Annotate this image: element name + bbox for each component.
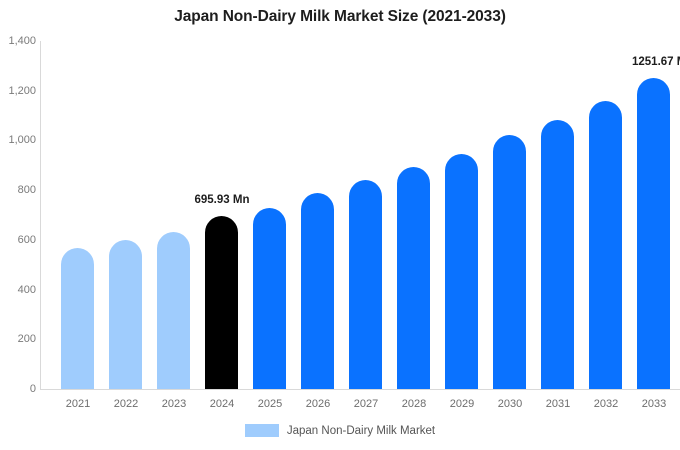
bar-group-2026: 2026 — [294, 0, 342, 450]
y-axis-tick-label: 400 — [2, 284, 36, 296]
x-axis-tick-label-2029: 2029 — [438, 398, 486, 410]
y-axis-tick-label: 1,000 — [2, 134, 36, 146]
bar-2024[interactable] — [205, 216, 238, 389]
x-axis-tick-label-2032: 2032 — [582, 398, 630, 410]
x-axis-tick-label-2022: 2022 — [102, 398, 150, 410]
bars-layer: 2021202220232024695.93 Mn202520262027202… — [40, 0, 680, 450]
x-axis-tick-label-2023: 2023 — [150, 398, 198, 410]
legend-label-japan-non-dairy-milk-market: Japan Non-Dairy Milk Market — [287, 425, 435, 437]
bar-2025[interactable] — [253, 208, 286, 389]
y-axis-tick-label: 600 — [2, 234, 36, 246]
x-axis-tick-label-2026: 2026 — [294, 398, 342, 410]
bar-group-2028: 2028 — [390, 0, 438, 450]
x-axis-tick-label-2021: 2021 — [54, 398, 102, 410]
bar-group-2030: 2030 — [486, 0, 534, 450]
x-axis-tick-label-2027: 2027 — [342, 398, 390, 410]
bar-group-2025: 2025 — [246, 0, 294, 450]
x-axis-tick-label-2031: 2031 — [534, 398, 582, 410]
bar-value-label-2033: 1251.67 Mn — [632, 56, 680, 68]
bar-group-2024: 2024695.93 Mn — [198, 0, 246, 450]
bar-2033[interactable] — [637, 78, 670, 389]
bar-2021[interactable] — [61, 248, 94, 389]
bar-group-2033: 20331251.67 Mn — [630, 0, 678, 450]
legend-swatch-japan-non-dairy-milk-market — [245, 424, 279, 437]
x-axis-tick-label-2028: 2028 — [390, 398, 438, 410]
y-axis-tick-label: 0 — [2, 383, 36, 395]
x-axis-tick-label-2030: 2030 — [486, 398, 534, 410]
bar-group-2032: 2032 — [582, 0, 630, 450]
bar-2022[interactable] — [109, 240, 142, 389]
y-axis-tick-labels: 1,4001,2001,0008006004002000 — [0, 0, 36, 450]
bar-group-2022: 2022 — [102, 0, 150, 450]
bar-2032[interactable] — [589, 101, 622, 389]
x-axis-tick-label-2033: 2033 — [630, 398, 678, 410]
bar-group-2027: 2027 — [342, 0, 390, 450]
bar-group-2031: 2031 — [534, 0, 582, 450]
chart-legend: Japan Non-Dairy Milk Market — [0, 424, 680, 437]
y-axis-tick-label: 1,200 — [2, 85, 36, 97]
y-axis-tick-label: 200 — [2, 333, 36, 345]
bar-group-2023: 2023 — [150, 0, 198, 450]
bar-2031[interactable] — [541, 120, 574, 389]
bar-2030[interactable] — [493, 135, 526, 389]
bar-2023[interactable] — [157, 232, 190, 389]
y-axis-tick-label: 800 — [2, 184, 36, 196]
bar-2029[interactable] — [445, 154, 478, 389]
x-axis-tick-label-2025: 2025 — [246, 398, 294, 410]
y-axis-tick-label: 1,400 — [2, 35, 36, 47]
bar-2028[interactable] — [397, 167, 430, 389]
bar-group-2021: 2021 — [54, 0, 102, 450]
bar-chart: Japan Non-Dairy Milk Market Size (2021-2… — [0, 0, 680, 450]
x-axis-tick-label-2024: 2024 — [198, 398, 246, 410]
bar-2026[interactable] — [301, 193, 334, 389]
bar-2027[interactable] — [349, 180, 382, 389]
bar-group-2029: 2029 — [438, 0, 486, 450]
